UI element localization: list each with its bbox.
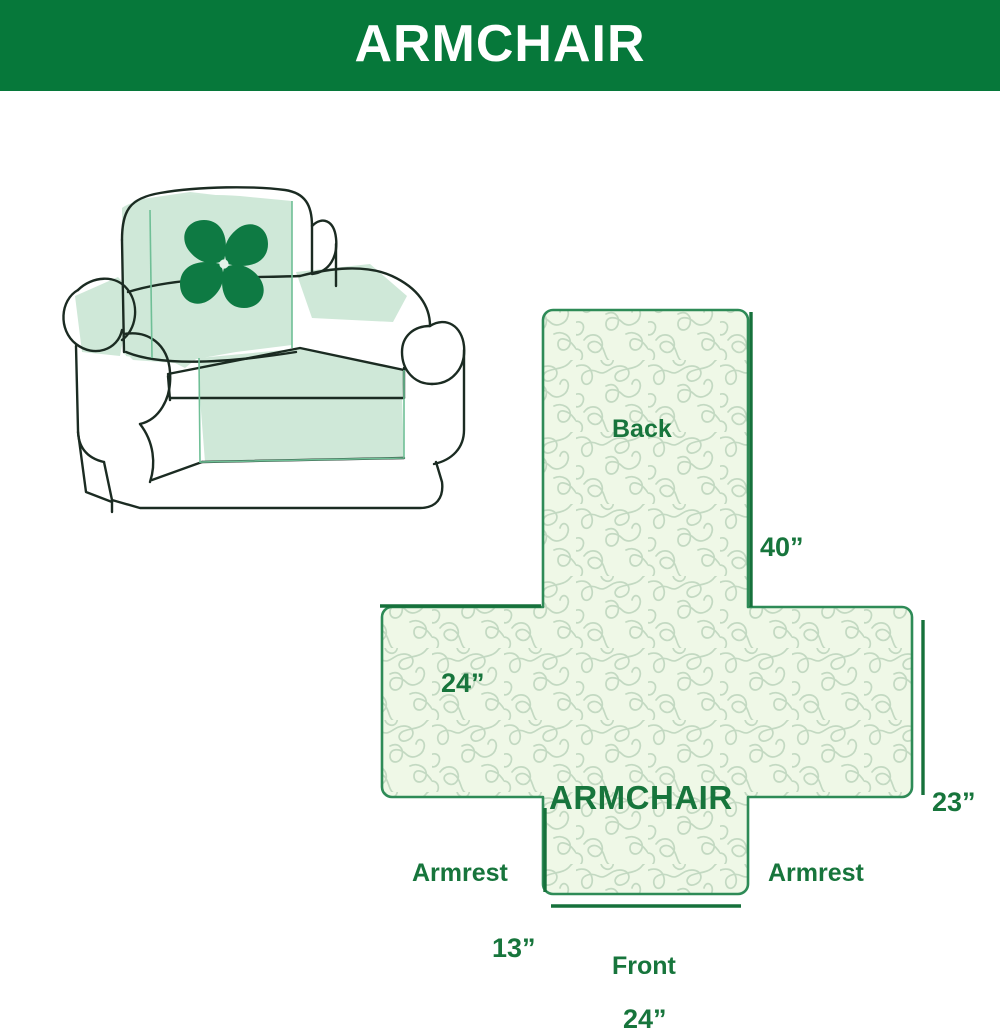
armchair-illustration	[63, 187, 464, 512]
panel-label-back: Back	[612, 417, 672, 442]
diagram-svg	[0, 0, 1000, 1000]
diagram-area: Back ARMCHAIR Armrest Armrest Front 40” …	[0, 95, 1000, 1000]
pattern-center-label: ARMCHAIR	[549, 781, 733, 814]
dimension-label-front-depth: 13”	[492, 935, 536, 962]
panel-label-armrest-right: Armrest	[768, 861, 864, 886]
panel-label-front: Front	[612, 954, 676, 979]
panel-label-armrest-left: Armrest	[412, 861, 508, 886]
dimension-label-armrest-width: 24”	[441, 670, 485, 697]
dimension-label-front-width: 24”	[623, 1006, 667, 1033]
dimension-label-back-height: 40”	[760, 534, 804, 561]
dimension-label-seat-height: 23”	[932, 789, 976, 816]
